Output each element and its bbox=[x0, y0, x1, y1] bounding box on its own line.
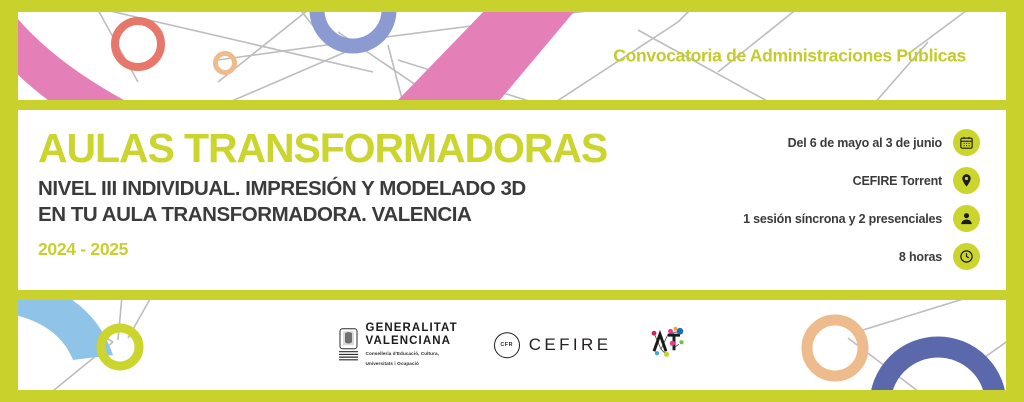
gva-crest-icon bbox=[337, 327, 360, 363]
generalitat-valenciana-logo: GENERALITAT VALENCIANA Conselleria d'Edu… bbox=[337, 322, 458, 368]
detail-hours-text: 8 horas bbox=[899, 250, 942, 264]
academic-year-label: 2024 - 2025 bbox=[38, 239, 607, 260]
detail-location-text: CEFIRE Torrent bbox=[853, 174, 942, 188]
detail-row-location: CEFIRE Torrent bbox=[743, 166, 980, 195]
detail-row-sessions: 1 sesión síncrona y 2 presenciales bbox=[743, 204, 980, 233]
location-pin-icon bbox=[953, 167, 980, 194]
detail-sessions-text: 1 sesión síncrona y 2 presenciales bbox=[743, 212, 942, 226]
banner-root: Convocatoria de Administraciones Pública… bbox=[0, 0, 1024, 402]
course-subtitle-line-2: EN TU AULA TRANSFORMADORA. VALENCIA bbox=[38, 202, 607, 228]
detail-dates-text: Del 6 de mayo al 3 de junio bbox=[788, 136, 942, 150]
deco-periwinkle-ring bbox=[317, 12, 389, 46]
deco-pink-stripe bbox=[398, 12, 578, 100]
course-title-block: AULAS TRANSFORMADORAS NIVEL III INDIVIDU… bbox=[38, 128, 607, 260]
gva-line-1: GENERALITAT bbox=[366, 322, 458, 335]
cefire-logo: CFR CEFIRE bbox=[494, 332, 612, 358]
person-icon bbox=[953, 205, 980, 232]
at-logo-icon bbox=[647, 326, 687, 360]
calendar-icon bbox=[953, 129, 980, 156]
cfr-circle-mark: CFR bbox=[494, 332, 520, 358]
detail-row-dates: Del 6 de mayo al 3 de junio bbox=[743, 128, 980, 157]
deco-coral-ring bbox=[115, 21, 161, 67]
gva-line-2: VALENCIANA bbox=[366, 335, 458, 348]
cefire-wordmark: CEFIRE bbox=[529, 335, 612, 355]
gva-wordmark: GENERALITAT VALENCIANA Conselleria d'Edu… bbox=[366, 322, 458, 368]
course-details-list: Del 6 de mayo al 3 de junio bbox=[743, 128, 980, 271]
aules-transformadores-logo bbox=[647, 326, 687, 365]
deco-peach-ring bbox=[216, 54, 235, 73]
clock-icon bbox=[953, 243, 980, 270]
header-strapline: Convocatoria de Administraciones Pública… bbox=[613, 46, 966, 67]
gva-department-line-1: Conselleria d'Educació, Cultura, bbox=[366, 351, 458, 358]
partner-logos: GENERALITAT VALENCIANA Conselleria d'Edu… bbox=[18, 322, 1006, 368]
top-decorative-panel: Convocatoria de Administraciones Pública… bbox=[18, 12, 1006, 100]
course-subtitle-line-1: NIVEL III INDIVIDUAL. IMPRESIÓN Y MODELA… bbox=[38, 176, 607, 202]
footer-panel: GENERALITAT VALENCIANA Conselleria d'Edu… bbox=[18, 300, 1006, 390]
main-content-panel: AULAS TRANSFORMADORAS NIVEL III INDIVIDU… bbox=[18, 110, 1006, 290]
page-title: AULAS TRANSFORMADORAS bbox=[38, 128, 607, 170]
gva-department-line-2: Universitats i Ocupació bbox=[366, 361, 458, 368]
detail-row-hours: 8 horas bbox=[743, 242, 980, 271]
